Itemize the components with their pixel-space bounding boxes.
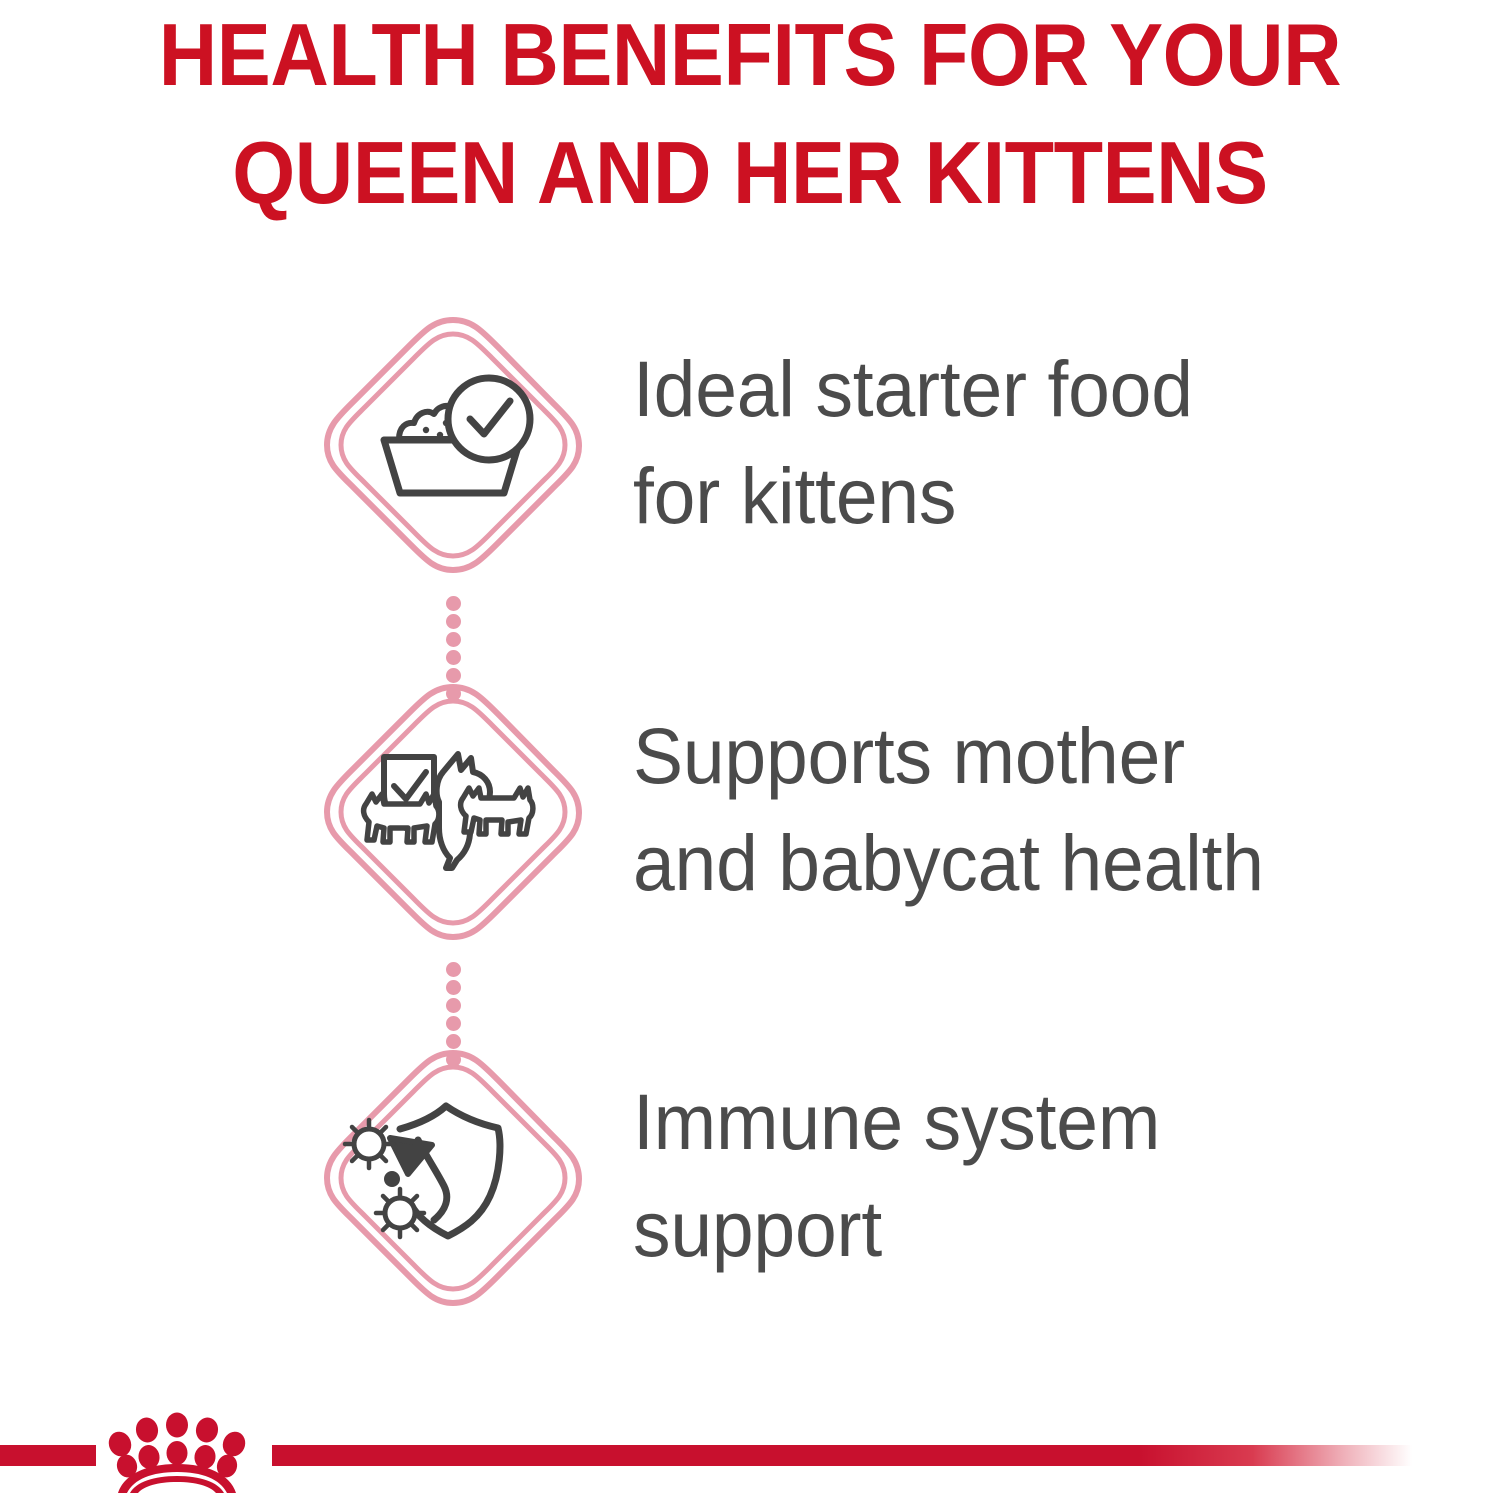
dotted-connector [444, 596, 462, 696]
page-title-line-2: QUEEN AND HER KITTENS [60, 90, 1440, 208]
benefit-item: Ideal starter food for kittens [0, 315, 1500, 575]
immune-shield-germs-icon [322, 1048, 584, 1308]
royal-canin-crown-logo [96, 1402, 272, 1493]
connector-dot [446, 596, 461, 611]
connector-dot [446, 998, 461, 1013]
benefit-label-line-1: Immune system [633, 1077, 1160, 1166]
benefit-item: Immune system support [0, 1048, 1500, 1308]
benefit-label-line-1: Supports mother [633, 711, 1185, 800]
benefit-label-line-2: for kittens [633, 451, 956, 540]
benefit-label-line-1: Ideal starter food [633, 344, 1193, 433]
footer-bar-right-segment [272, 1445, 1412, 1466]
dotted-connector [444, 962, 462, 1062]
connector-dot [446, 614, 461, 629]
benefit-item: Supports mother and babycat health [0, 682, 1500, 942]
food-bowl-check-icon [322, 315, 584, 575]
benefit-label-line-2: and babycat health [633, 818, 1264, 907]
benefit-label: Immune system support [633, 1068, 1393, 1282]
connector-dot [446, 1034, 461, 1049]
connector-dot [446, 650, 461, 665]
page-title-line-1: HEALTH BENEFITS FOR YOUR [60, 2, 1440, 90]
connector-dot [446, 1016, 461, 1031]
connector-dot [446, 632, 461, 647]
benefit-label-line-2: support [633, 1184, 882, 1273]
infographic-canvas: HEALTH BENEFITS FOR YOUR QUEEN AND HER K… [0, 0, 1500, 1493]
page-title: HEALTH BENEFITS FOR YOUR QUEEN AND HER K… [0, 2, 1500, 208]
connector-dot [446, 668, 461, 683]
mother-cat-kittens-shield-icon [322, 682, 584, 942]
connector-dot [446, 962, 461, 977]
footer-bar-left-segment [0, 1445, 96, 1466]
benefit-label: Ideal starter food for kittens [633, 335, 1393, 549]
connector-dot [446, 980, 461, 995]
benefit-label: Supports mother and babycat health [633, 702, 1393, 916]
